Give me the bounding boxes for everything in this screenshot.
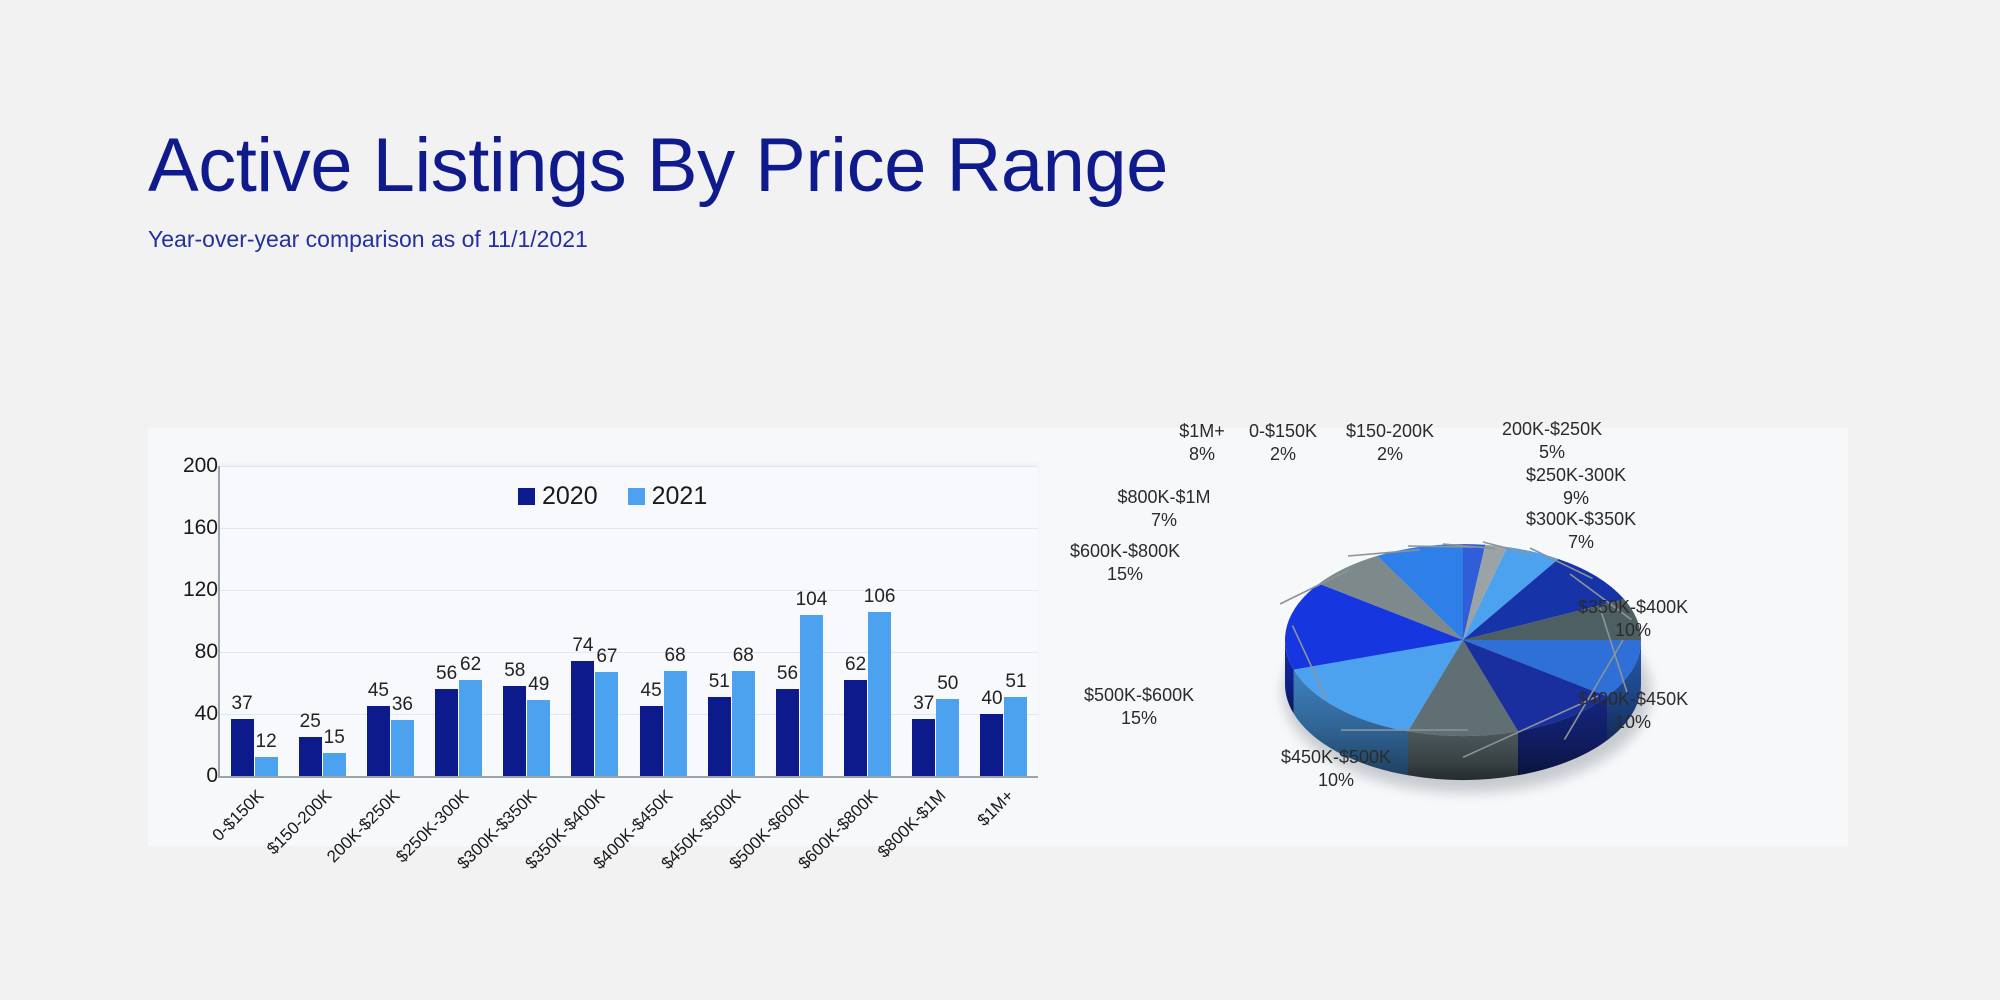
pie-slice-wall-400k-450k <box>1408 731 1518 780</box>
bar-2021[interactable]: 67 <box>595 672 618 776</box>
pie-label-name: $600K-$800K <box>1070 541 1180 561</box>
bar-2020[interactable]: 56 <box>776 689 799 776</box>
bar-value-label: 74 <box>572 635 593 657</box>
bar-2020[interactable]: 45 <box>640 706 663 776</box>
bar-2021[interactable]: 106 <box>868 612 891 776</box>
pie-label-percent: 10% <box>1578 619 1688 642</box>
x-axis-labels: 0-$150K$150-200K200K-$250K$250K-300K$300… <box>220 782 1038 902</box>
x-axis-line <box>218 776 1038 778</box>
pie-label-400k-450k: $400K-$450K10% <box>1578 688 1688 734</box>
y-tick-label: 0 <box>164 764 218 788</box>
pie-label-800k-1m: $800K-$1M7% <box>1117 486 1210 532</box>
bar-2021[interactable]: 36 <box>391 720 414 776</box>
bar-value-label: 68 <box>733 645 754 667</box>
bar-value-label: 50 <box>937 673 958 695</box>
bar-value-label: 45 <box>368 680 389 702</box>
pie-label-name: $1M+ <box>1179 421 1225 441</box>
bar-2021[interactable]: 15 <box>323 753 346 776</box>
bar-chart: 20016012080400 2020 2021 371225154536566… <box>158 436 1068 846</box>
bar-value-label: 40 <box>981 688 1002 710</box>
charts-card: 20016012080400 2020 2021 371225154536566… <box>148 428 1848 846</box>
bar-2020[interactable]: 37 <box>231 719 254 776</box>
bar-group: 5662 <box>425 466 493 776</box>
y-axis-ticks: 20016012080400 <box>158 436 218 808</box>
bar-value-label: 37 <box>913 693 934 715</box>
bar-value-label: 37 <box>232 693 253 715</box>
bar-value-label: 49 <box>528 674 549 696</box>
bar-value-label: 67 <box>596 646 617 668</box>
bar-group: 3750 <box>902 466 970 776</box>
bar-group: 56104 <box>765 466 833 776</box>
pie-label-name: $800K-$1M <box>1117 487 1210 507</box>
bar-group: 5849 <box>493 466 561 776</box>
bar-2020[interactable]: 58 <box>503 686 526 776</box>
bar-2020[interactable]: 45 <box>367 706 390 776</box>
bar-2021[interactable]: 104 <box>800 615 823 776</box>
pie-label-350k-400k: $350K-$400K10% <box>1578 596 1688 642</box>
pie-label-450k-500k: $450K-$500K10% <box>1281 746 1391 792</box>
page-header: Active Listings By Price Range Year-over… <box>148 128 1168 253</box>
bar-2021[interactable]: 68 <box>732 671 755 776</box>
y-tick-label: 40 <box>164 702 218 726</box>
x-label-slot: $800K-$1M <box>902 782 970 902</box>
bar-groups: 3712251545365662584974674568516856104621… <box>220 466 1038 776</box>
pie-label-percent: 2% <box>1249 443 1317 466</box>
pie-label-name: 0-$150K <box>1249 421 1317 441</box>
bar-group: 5168 <box>697 466 765 776</box>
bar-group: 4568 <box>629 466 697 776</box>
pie-stage: $1M+8%0-$150K2%$150-200K2%200K-$250K5%$2… <box>1078 428 1848 846</box>
pie-label-name: $150-200K <box>1346 421 1434 441</box>
bar-group: 62106 <box>834 466 902 776</box>
bar-group: 7467 <box>561 466 629 776</box>
pie-label-percent: 15% <box>1084 707 1194 730</box>
bar-value-label: 12 <box>256 731 277 753</box>
page-subtitle: Year-over-year comparison as of 11/1/202… <box>148 226 1168 253</box>
bar-value-label: 104 <box>796 589 828 611</box>
bar-2021[interactable]: 12 <box>255 757 278 776</box>
bar-value-label: 68 <box>665 645 686 667</box>
bar-value-label: 62 <box>845 654 866 676</box>
bar-2020[interactable]: 74 <box>571 661 594 776</box>
bar-2021[interactable]: 50 <box>936 699 959 777</box>
pie-label-200k-250k: 200K-$250K5% <box>1502 418 1602 464</box>
bar-2020[interactable]: 37 <box>912 719 935 776</box>
y-tick-label: 200 <box>164 454 218 478</box>
pie-label-250k-300k: $250K-300K9% <box>1526 464 1626 510</box>
bar-2021[interactable]: 68 <box>664 671 687 776</box>
page-title: Active Listings By Price Range <box>148 128 1168 204</box>
pie-label-500k-600k: $500K-$600K15% <box>1084 684 1194 730</box>
bar-2020[interactable]: 62 <box>844 680 867 776</box>
pie-chart: $1M+8%0-$150K2%$150-200K2%200K-$250K5%$2… <box>1078 428 1848 846</box>
bar-group: 2515 <box>288 466 356 776</box>
pie-label-name: $400K-$450K <box>1578 689 1688 709</box>
bar-value-label: 62 <box>460 654 481 676</box>
bar-value-label: 25 <box>300 711 321 733</box>
x-label-slot: $1M+ <box>970 782 1038 902</box>
bar-2020[interactable]: 51 <box>708 697 731 776</box>
y-tick-label: 120 <box>164 578 218 602</box>
pie-label-name: 200K-$250K <box>1502 419 1602 439</box>
bar-value-label: 51 <box>1005 671 1026 693</box>
pie-label-percent: 2% <box>1346 443 1434 466</box>
bar-value-label: 56 <box>777 663 798 685</box>
x-axis-label: $1M+ <box>974 786 1019 831</box>
bar-value-label: 45 <box>641 680 662 702</box>
pie-label-name: $450K-$500K <box>1281 747 1391 767</box>
y-tick-label: 80 <box>164 640 218 664</box>
bar-group: 4051 <box>970 466 1038 776</box>
bar-value-label: 56 <box>436 663 457 685</box>
bar-2020[interactable]: 56 <box>435 689 458 776</box>
bar-value-label: 36 <box>392 694 413 716</box>
pie-label-name: $500K-$600K <box>1084 685 1194 705</box>
pie-label-percent: 7% <box>1117 509 1210 532</box>
y-tick-label: 160 <box>164 516 218 540</box>
pie-label-600k-800k: $600K-$800K15% <box>1070 540 1180 586</box>
pie-label-0-150k: 0-$150K2% <box>1249 420 1317 466</box>
pie-label-name: $250K-300K <box>1526 465 1626 485</box>
pie-label-percent: 8% <box>1179 443 1225 466</box>
bar-value-label: 51 <box>709 671 730 693</box>
pie-label-1m-plus: $1M+8% <box>1179 420 1225 466</box>
bar-value-label: 15 <box>324 727 345 749</box>
pie-label-percent: 10% <box>1578 711 1688 734</box>
bar-2020[interactable]: 25 <box>299 737 322 776</box>
pie-label-300k-350k: $300K-$350K7% <box>1526 508 1636 554</box>
pie-label-percent: 7% <box>1526 531 1636 554</box>
pie-label-percent: 5% <box>1502 441 1602 464</box>
pie-label-name: $300K-$350K <box>1526 509 1636 529</box>
bar-2020[interactable]: 40 <box>980 714 1003 776</box>
pie-label-percent: 9% <box>1526 487 1626 510</box>
pie-label-percent: 10% <box>1281 769 1391 792</box>
pie-label-name: $350K-$400K <box>1578 597 1688 617</box>
pie-label-150-200k: $150-200K2% <box>1346 420 1434 466</box>
bar-2021[interactable]: 49 <box>527 700 550 776</box>
bar-group: 3712 <box>220 466 288 776</box>
bar-2021[interactable]: 62 <box>459 680 482 776</box>
bar-value-label: 58 <box>504 660 525 682</box>
bar-value-label: 106 <box>864 586 896 608</box>
bar-2021[interactable]: 51 <box>1004 697 1027 776</box>
pie-label-percent: 15% <box>1070 563 1180 586</box>
bar-group: 4536 <box>356 466 424 776</box>
